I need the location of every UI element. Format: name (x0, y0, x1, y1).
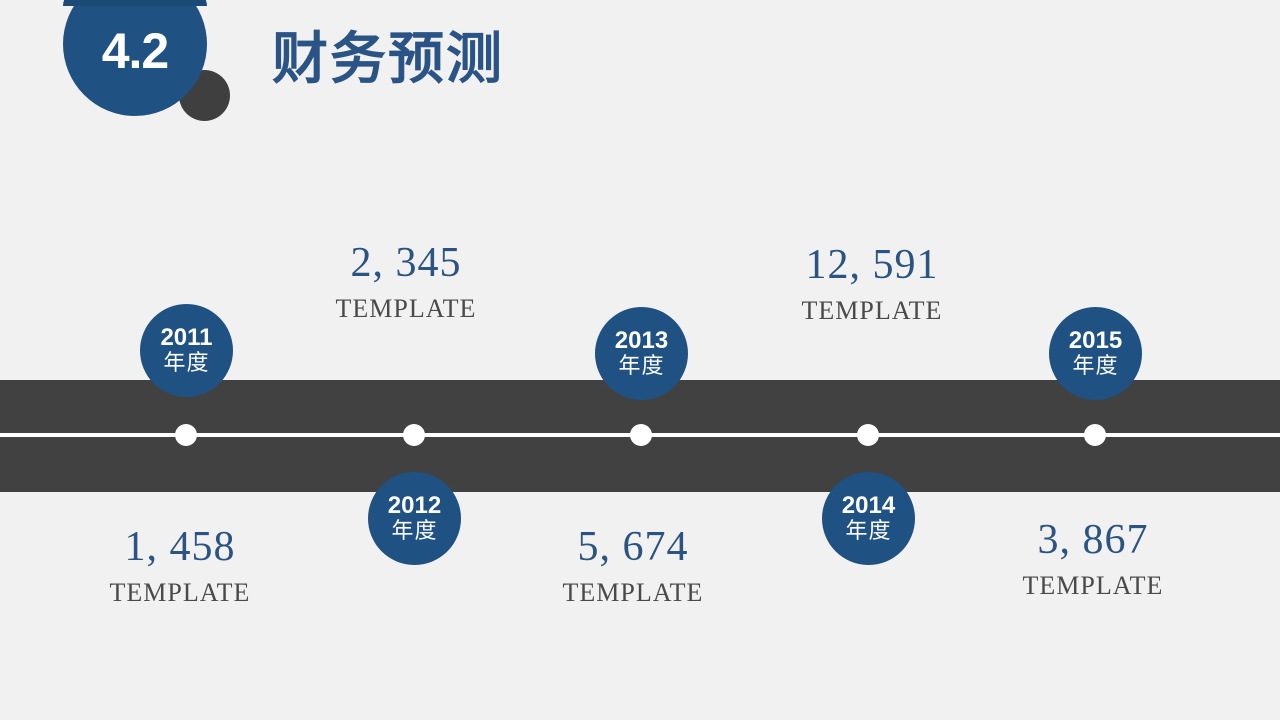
year-bubble-2014[interactable]: 2014 年度 (822, 472, 915, 565)
value-caption: TEMPLATE (256, 294, 556, 324)
slide-canvas: 4.2 财务预测 2011 年度 2013 年度 2015 年度 2012 年度… (0, 0, 1280, 720)
value-caption: TEMPLATE (30, 578, 330, 608)
year-bubble-2015[interactable]: 2015 年度 (1049, 307, 1142, 400)
value-amount: 12, 591 (722, 242, 1022, 288)
value-block-2013: 5, 674 TEMPLATE (483, 524, 783, 608)
year-bubble-2011[interactable]: 2011 年度 (140, 304, 233, 397)
value-block-2015: 3, 867 TEMPLATE (943, 517, 1243, 601)
timeline-node-dot (857, 424, 879, 446)
value-caption: TEMPLATE (483, 578, 783, 608)
value-caption: TEMPLATE (722, 296, 1022, 326)
year-bubble-year: 2013 (615, 328, 668, 353)
value-amount: 3, 867 (943, 517, 1243, 563)
timeline-node-dot (630, 424, 652, 446)
year-bubble-2013[interactable]: 2013 年度 (595, 307, 688, 400)
value-amount: 2, 345 (256, 240, 556, 286)
year-bubble-label: 年度 (845, 518, 891, 543)
page-title: 财务预测 (272, 27, 504, 91)
year-bubble-label: 年度 (1072, 353, 1118, 378)
year-bubble-year: 2012 (388, 493, 441, 518)
year-bubble-label: 年度 (618, 353, 664, 378)
year-bubble-label: 年度 (391, 518, 437, 543)
section-number-text: 4.2 (63, 0, 207, 116)
year-bubble-year: 2011 (160, 325, 212, 350)
value-amount: 1, 458 (30, 524, 330, 570)
value-caption: TEMPLATE (943, 571, 1243, 601)
timeline-node-dot (403, 424, 425, 446)
year-bubble-label: 年度 (163, 350, 209, 375)
value-block-2012: 2, 345 TEMPLATE (256, 240, 556, 324)
value-block-2014: 12, 591 TEMPLATE (722, 242, 1022, 326)
year-bubble-2012[interactable]: 2012 年度 (368, 472, 461, 565)
value-amount: 5, 674 (483, 524, 783, 570)
year-bubble-year: 2015 (1069, 328, 1122, 353)
timeline-node-dot (1084, 424, 1106, 446)
year-bubble-year: 2014 (842, 493, 895, 518)
value-block-2011: 1, 458 TEMPLATE (30, 524, 330, 608)
timeline-node-dot (175, 424, 197, 446)
